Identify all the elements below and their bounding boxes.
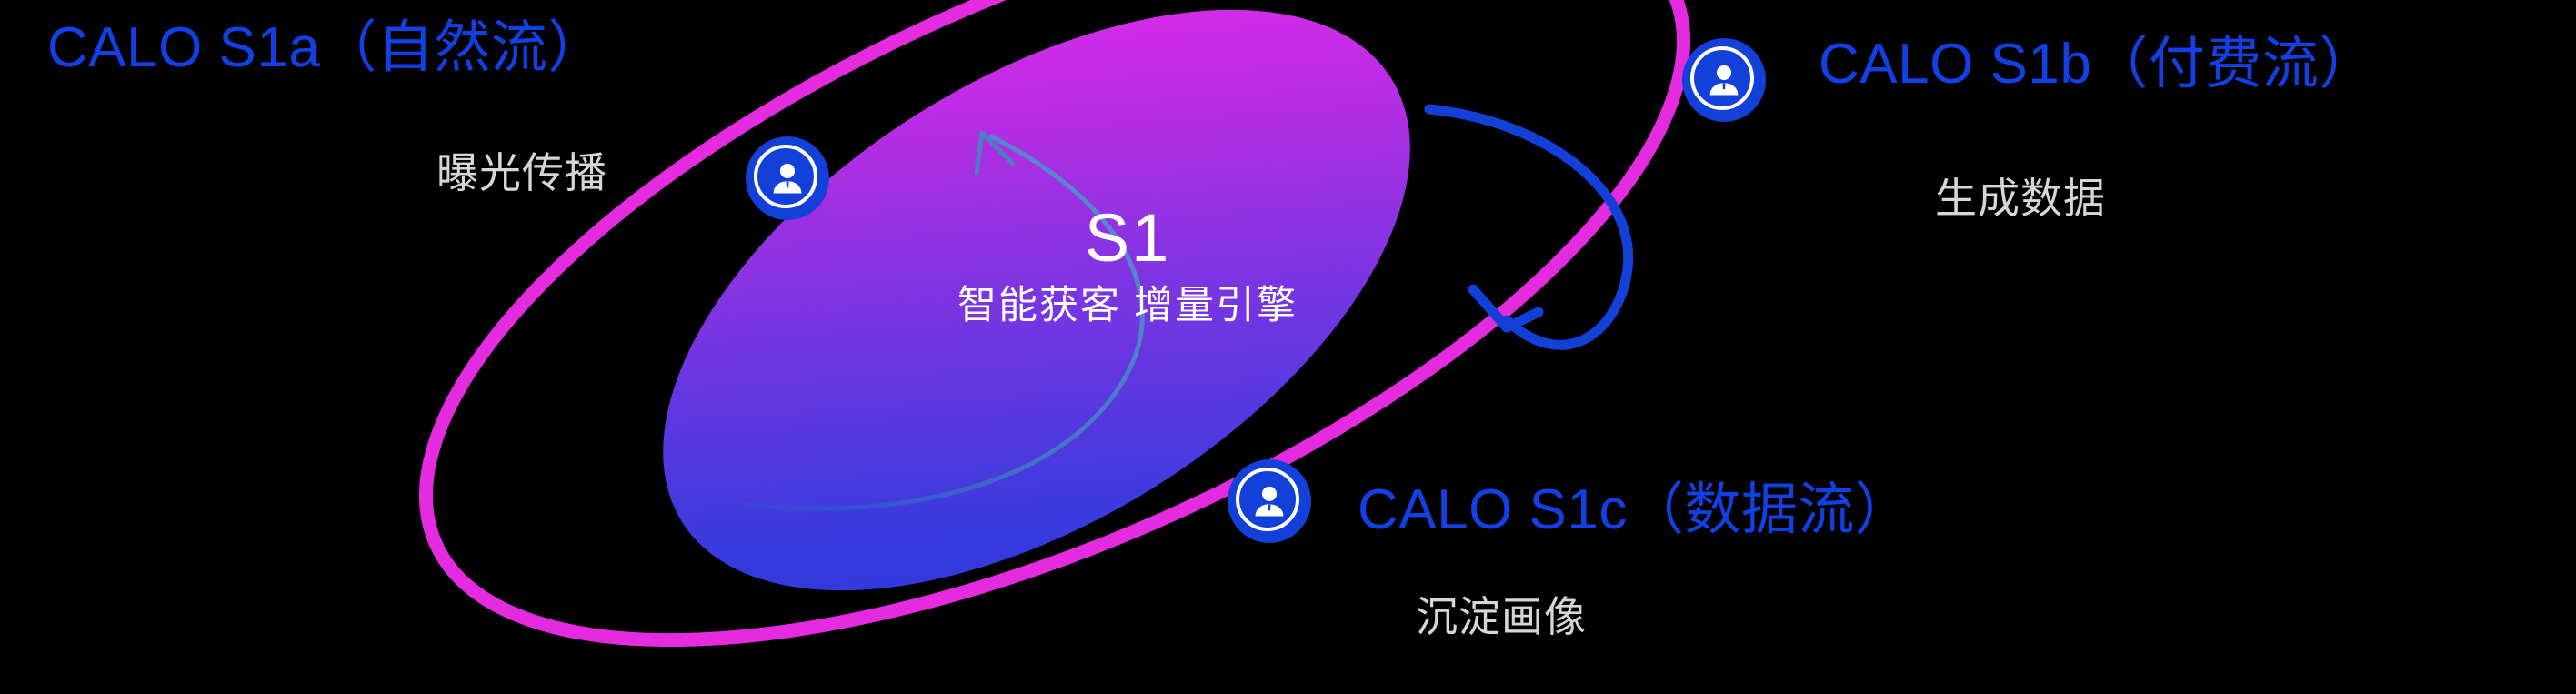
core-label-group: S1 智能获客 增量引擎 [764,205,1491,326]
node-badge-s1c[interactable] [1228,459,1311,543]
node-title-s1c: CALO S1c（数据流） [1358,482,1911,538]
node-title-s1a: CALO S1a（自然流） [47,20,605,76]
user-icon [1249,481,1289,521]
user-icon [1704,60,1744,100]
node-title-s1b: CALO S1b（付费流） [1819,36,2376,93]
core-ellipse [565,0,1509,694]
node-caption-s1b: 生成数据 [1935,177,2106,219]
node-caption-s1a: 曝光传播 [436,152,607,194]
core-title: S1 [764,205,1491,272]
node-badge-s1b[interactable] [1682,38,1766,122]
core-subtitle: 智能获客 增量引擎 [764,287,1491,326]
user-icon [767,158,807,198]
node-caption-s1c: 沉淀画像 [1416,596,1587,638]
diagram-canvas: S1 智能获客 增量引擎 CALO S1a（自然流） 曝光传播 CALO S1b… [0,0,2576,694]
diagram-vector-layer [0,0,2576,694]
